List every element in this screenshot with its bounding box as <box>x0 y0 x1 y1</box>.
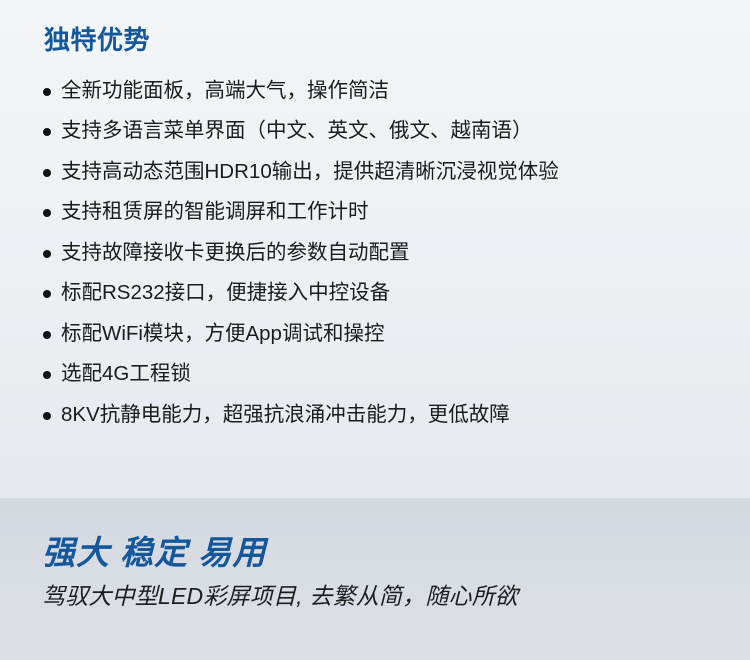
filled-dot-icon <box>43 88 51 96</box>
tagline-subtitle: 驾驭大中型LED彩屏项目, 去繁从简，随心所欲 <box>42 582 720 611</box>
list-item: 支持多语言菜单界面（中文、英文、俄文、越南语） <box>42 111 720 152</box>
list-item: 标配RS232接口，便捷接入中控设备 <box>42 273 720 314</box>
features-title: 独特优势 <box>42 26 720 55</box>
features-list: 全新功能面板，高端大气，操作简洁 支持多语言菜单界面（中文、英文、俄文、越南语）… <box>42 71 720 436</box>
feature-text: 支持高动态范围HDR10输出，提供超清晰沉浸视觉体验 <box>61 160 559 185</box>
feature-text: 标配RS232接口，便捷接入中控设备 <box>61 281 390 306</box>
list-item: 选配4G工程锁 <box>42 354 720 395</box>
features-panel: 独特优势 全新功能面板，高端大气，操作简洁 支持多语言菜单界面（中文、英文、俄文… <box>0 0 750 498</box>
feature-text: 8KV抗静电能力，超强抗浪涌冲击能力，更低故障 <box>61 403 510 428</box>
feature-text: 支持多语言菜单界面（中文、英文、俄文、越南语） <box>61 119 533 144</box>
list-item: 标配WiFi模块，方便App调试和操控 <box>42 314 720 355</box>
list-item: 支持故障接收卡更换后的参数自动配置 <box>42 233 720 274</box>
filled-dot-icon <box>43 209 51 217</box>
filled-dot-icon <box>43 371 51 379</box>
list-item: 全新功能面板，高端大气，操作简洁 <box>42 71 720 112</box>
feature-text: 选配4G工程锁 <box>61 362 191 387</box>
filled-dot-icon <box>43 290 51 298</box>
list-item: 支持租赁屏的智能调屏和工作计时 <box>42 192 720 233</box>
tagline-panel: 强大 稳定 易用 驾驭大中型LED彩屏项目, 去繁从简，随心所欲 <box>0 498 750 660</box>
filled-dot-icon <box>43 412 51 420</box>
filled-dot-icon <box>43 331 51 339</box>
feature-text: 全新功能面板，高端大气，操作简洁 <box>61 79 389 104</box>
promo-page: 独特优势 全新功能面板，高端大气，操作简洁 支持多语言菜单界面（中文、英文、俄文… <box>0 0 750 660</box>
feature-text: 支持租赁屏的智能调屏和工作计时 <box>61 200 369 225</box>
feature-text: 标配WiFi模块，方便App调试和操控 <box>61 322 384 347</box>
tagline-heading: 强大 稳定 易用 <box>42 534 720 572</box>
filled-dot-icon <box>43 128 51 136</box>
list-item: 支持高动态范围HDR10输出，提供超清晰沉浸视觉体验 <box>42 152 720 193</box>
filled-dot-icon <box>43 169 51 177</box>
feature-text: 支持故障接收卡更换后的参数自动配置 <box>61 241 410 266</box>
list-item: 8KV抗静电能力，超强抗浪涌冲击能力，更低故障 <box>42 395 720 436</box>
filled-dot-icon <box>43 250 51 258</box>
